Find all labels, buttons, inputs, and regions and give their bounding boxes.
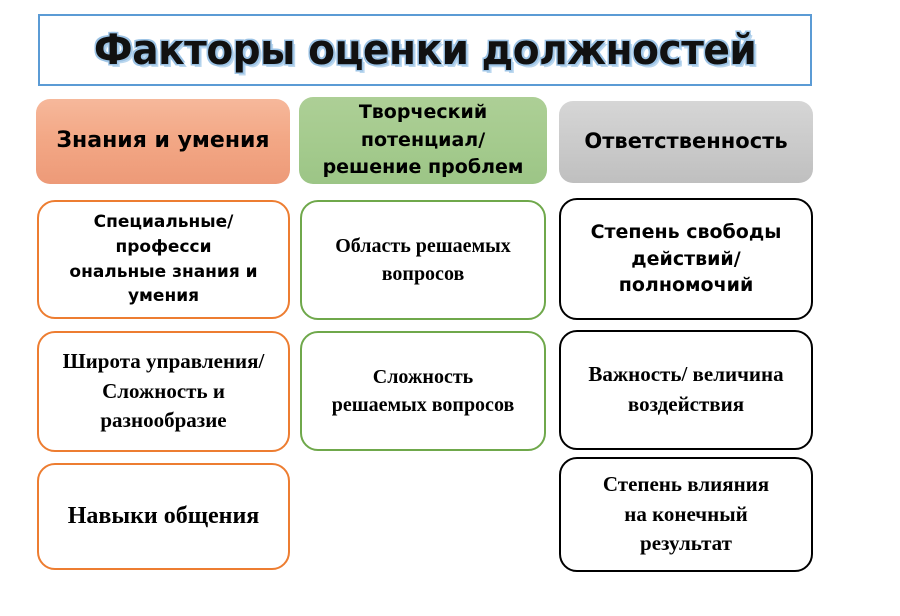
column-header-responsibility[interactable]: Ответственность bbox=[559, 101, 813, 183]
factor-card-knowledge-3-label: Навыки общения bbox=[39, 500, 288, 532]
column-header-responsibility-label: Ответственность bbox=[559, 129, 813, 154]
column-header-creativity-label: Творческий потенциал/ решение проблем bbox=[299, 99, 547, 182]
factor-card-creativity-1[interactable]: Область решаемых вопросов bbox=[300, 200, 546, 320]
factor-card-creativity-1-label: Область решаемых вопросов bbox=[302, 232, 544, 289]
factor-card-knowledge-3[interactable]: Навыки общения bbox=[37, 463, 290, 570]
factor-card-responsibility-2[interactable]: Важность/ величина воздействия bbox=[559, 330, 813, 450]
column-header-creativity[interactable]: Творческий потенциал/ решение проблем bbox=[299, 97, 547, 184]
factor-card-responsibility-1[interactable]: Степень свободы действий/полномочий bbox=[559, 198, 813, 320]
factor-card-creativity-2-label: Сложность решаемых вопросов bbox=[302, 363, 544, 420]
slide-title-box: Факторы оценки должностей bbox=[38, 14, 812, 86]
factor-card-responsibility-3-label: Степень влияния на конечный результат bbox=[561, 470, 811, 559]
factor-card-knowledge-2-label: Широта управления/ Сложность и разнообра… bbox=[39, 347, 288, 436]
factor-card-knowledge-2[interactable]: Широта управления/ Сложность и разнообра… bbox=[37, 331, 290, 452]
page-title: Факторы оценки должностей bbox=[94, 29, 756, 71]
factor-card-knowledge-1[interactable]: Специальные/професси ональные знания и у… bbox=[37, 200, 290, 319]
factor-card-responsibility-1-label: Степень свободы действий/полномочий bbox=[561, 219, 811, 300]
factor-card-knowledge-1-label: Специальные/професси ональные знания и у… bbox=[39, 210, 288, 309]
factor-card-creativity-2[interactable]: Сложность решаемых вопросов bbox=[300, 331, 546, 451]
factor-card-responsibility-3[interactable]: Степень влияния на конечный результат bbox=[559, 457, 813, 572]
factor-card-responsibility-2-label: Важность/ величина воздействия bbox=[561, 360, 811, 420]
column-header-knowledge[interactable]: Знания и умения bbox=[36, 99, 290, 184]
column-header-knowledge-label: Знания и умения bbox=[36, 128, 290, 154]
